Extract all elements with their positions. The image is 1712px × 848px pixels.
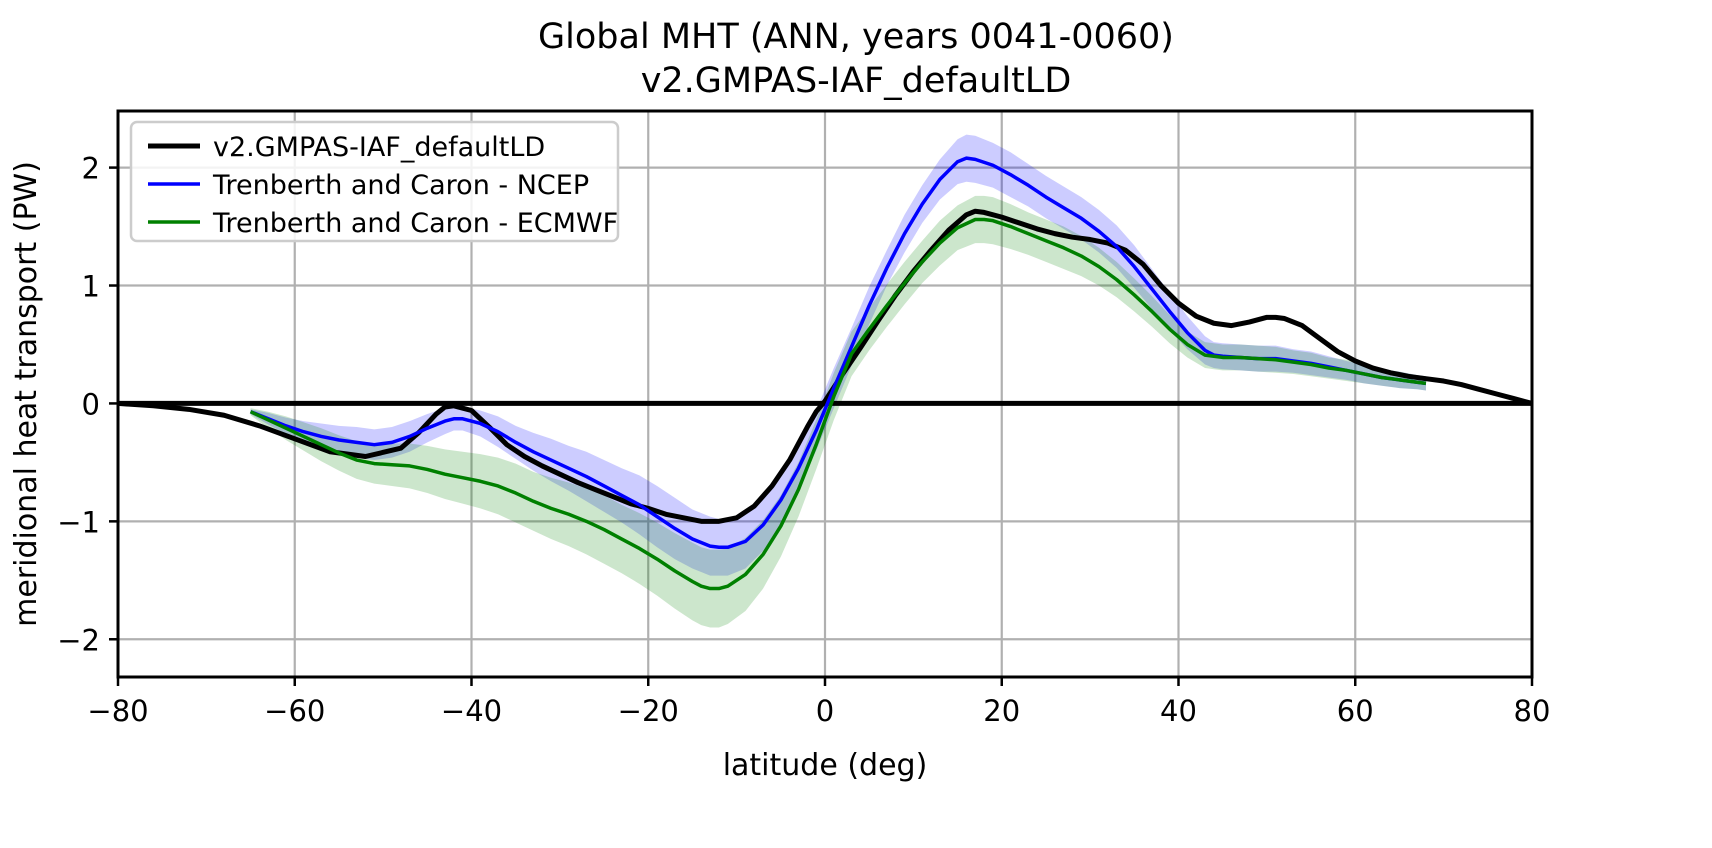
mht-line-chart: Global MHT (ANN, years 0041-0060) v2.GMP…: [0, 0, 1712, 848]
legend-label-0: v2.GMPAS-IAF_defaultLD: [213, 132, 545, 163]
x-tick-label: 60: [1337, 694, 1374, 728]
x-tick-label: 20: [983, 694, 1020, 728]
chart-title-line-2: v2.GMPAS-IAF_defaultLD: [641, 61, 1072, 101]
legend[interactable]: v2.GMPAS-IAF_defaultLD Trenberth and Car…: [131, 122, 618, 241]
legend-item-2[interactable]: Trenberth and Caron - ECMWF: [148, 208, 618, 239]
x-tick-label: −80: [87, 694, 148, 728]
legend-item-1[interactable]: Trenberth and Caron - NCEP: [148, 170, 589, 201]
chart-title-line-1: Global MHT (ANN, years 0041-0060): [538, 17, 1174, 57]
x-tick-label: −40: [441, 694, 502, 728]
y-tick-label: 2: [82, 152, 100, 186]
legend-label-1: Trenberth and Caron - NCEP: [212, 170, 589, 201]
x-axis-label: latitude (deg): [723, 748, 928, 783]
y-axis-label: meridional heat transport (PW): [9, 161, 44, 627]
y-tick-label: −2: [57, 623, 100, 657]
y-tick-label: 0: [82, 387, 100, 421]
x-tick-label: −60: [264, 694, 325, 728]
x-tick-label: 80: [1514, 694, 1551, 728]
y-tick-label: 1: [82, 270, 100, 304]
legend-label-2: Trenberth and Caron - ECMWF: [212, 208, 618, 239]
x-tick-label: 0: [816, 694, 834, 728]
x-tick-label: 40: [1160, 694, 1197, 728]
y-tick-label: −1: [57, 505, 100, 539]
x-tick-label: −20: [618, 694, 679, 728]
figure-canvas: Global MHT (ANN, years 0041-0060) v2.GMP…: [0, 0, 1712, 848]
